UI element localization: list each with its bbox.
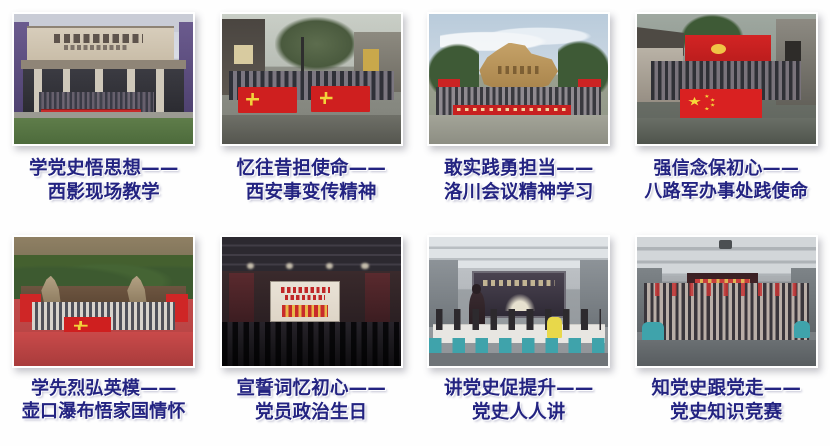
gallery-item-6[interactable]: 宣誓词忆初心—— 党员政治生日 <box>208 225 416 446</box>
gallery-item-5[interactable]: 学先烈弘英模—— 壶口瀑布悟家国情怀 <box>0 225 208 446</box>
caption-4-line1: 强信念保初心—— <box>653 158 799 179</box>
caption-6-line2: 党员政治生日 <box>236 401 386 425</box>
caption-6-line1: 宣誓词忆初心—— <box>236 378 386 399</box>
caption-4: 强信念保初心—— 八路军办事处践使命 <box>644 157 808 204</box>
caption-4-line2: 八路军办事处践使命 <box>644 180 808 203</box>
luochuan-conference-monument-group-photo-image <box>429 14 608 144</box>
eighth-route-army-office-national-flag-image <box>637 14 816 144</box>
photo-frame-7[interactable] <box>427 235 610 368</box>
gallery-item-2[interactable]: 忆往昔担使命—— 西安事变传精神 <box>208 0 416 225</box>
party-oath-political-birthday-assembly-image <box>222 237 401 366</box>
hukou-waterfall-stage-party-flag-image <box>14 237 193 366</box>
caption-5: 学先烈弘英模—— 壶口瀑布悟家国情怀 <box>22 377 186 424</box>
photo-frame-1[interactable] <box>12 12 195 146</box>
xian-incident-memorial-party-flags-image <box>222 14 401 144</box>
party-history-knowledge-contest-group-image <box>637 237 816 366</box>
caption-7-line2: 党史人人讲 <box>444 401 594 425</box>
gallery-item-8[interactable]: 知党史跟党走—— 党史知识竞赛 <box>623 225 830 446</box>
gallery-grid: 学党史悟思想—— 西影现场教学 忆往昔担使命—— 西安事变传精神 <box>0 0 830 446</box>
caption-5-line2: 壶口瀑布悟家国情怀 <box>22 400 186 423</box>
gallery-item-7[interactable]: 讲党史促提升—— 党史人人讲 <box>415 225 623 446</box>
caption-5-line1: 学先烈弘英模—— <box>31 378 177 399</box>
caption-2-line1: 忆往昔担使命—— <box>236 158 386 179</box>
caption-3-line1: 敢实践勇担当—— <box>444 158 594 179</box>
caption-1-line2: 西影现场教学 <box>29 181 179 205</box>
photo-frame-2[interactable] <box>220 12 403 146</box>
photo-frame-8[interactable] <box>635 235 818 368</box>
party-history-lecture-classroom-image <box>429 237 608 366</box>
caption-3: 敢实践勇担当—— 洛川会议精神学习 <box>444 157 594 205</box>
caption-2-line2: 西安事变传精神 <box>236 181 386 205</box>
gallery-item-3[interactable]: 敢实践勇担当—— 洛川会议精神学习 <box>415 0 623 225</box>
caption-8-line1: 知党史跟党走—— <box>651 378 801 399</box>
caption-8: 知党史跟党走—— 党史知识竞赛 <box>651 377 801 425</box>
photo-frame-5[interactable] <box>12 235 195 368</box>
caption-6: 宣誓词忆初心—— 党员政治生日 <box>236 377 386 425</box>
gallery-item-1[interactable]: 学党史悟思想—— 西影现场教学 <box>0 0 208 225</box>
caption-7-line1: 讲党史促提升—— <box>444 378 594 399</box>
caption-2: 忆往昔担使命—— 西安事变传精神 <box>236 157 386 205</box>
photo-frame-6[interactable] <box>220 235 403 368</box>
caption-7: 讲党史促提升—— 党史人人讲 <box>444 377 594 425</box>
photo-gallery-board: 学党史悟思想—— 西影现场教学 忆往昔担使命—— 西安事变传精神 <box>0 0 830 446</box>
xi-ying-film-studio-group-photo-image <box>14 14 193 144</box>
photo-frame-4[interactable] <box>635 12 818 146</box>
caption-3-line2: 洛川会议精神学习 <box>444 181 594 205</box>
caption-8-line2: 党史知识竞赛 <box>651 401 801 425</box>
caption-1-line1: 学党史悟思想—— <box>29 158 179 179</box>
gallery-item-4[interactable]: 强信念保初心—— 八路军办事处践使命 <box>623 0 830 225</box>
caption-1: 学党史悟思想—— 西影现场教学 <box>29 157 179 205</box>
photo-frame-3[interactable] <box>427 12 610 146</box>
